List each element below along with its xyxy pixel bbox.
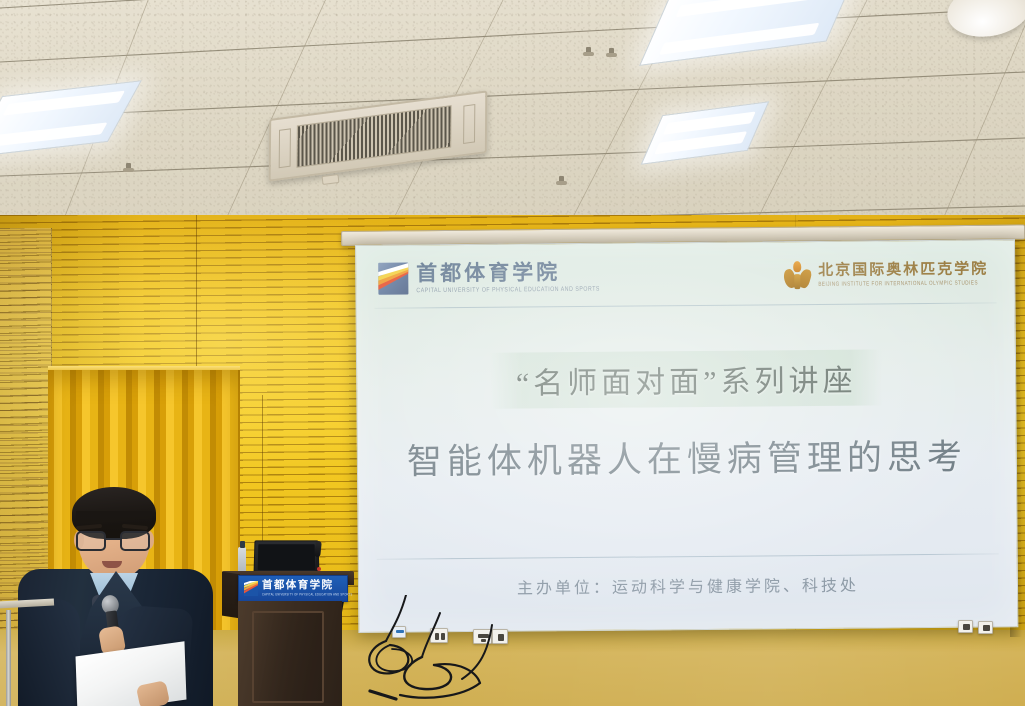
speaker-arm-left — [18, 599, 80, 706]
speaker-person — [18, 487, 213, 706]
ceiling — [0, 0, 1025, 250]
sprinkler-head-icon — [583, 47, 594, 59]
slide-series-title: “名师面对面”系列讲座 — [490, 349, 883, 408]
cupes-emblem-icon — [378, 263, 408, 295]
biios-logo: 北京国际奥林匹克学院 BEIJING INSTITUTE FOR INTERNA… — [784, 258, 988, 290]
lecture-hall-photo: 首都体育学院 CAPITAL UNIVERSITY OF PHYSICAL ED… — [0, 0, 1025, 706]
sprinkler-head-icon — [556, 176, 567, 188]
slide-subject-title: 智能体机器人在慢病管理的思考 — [358, 428, 1016, 485]
cupes-logo: 首都体育学院 CAPITAL UNIVERSITY OF PHYSICAL ED… — [378, 261, 600, 295]
olympic-flame-emblem-icon — [784, 260, 810, 290]
cupes-logo-en: CAPITAL UNIVERSITY OF PHYSICAL EDUCATION… — [416, 287, 600, 295]
sprinkler-head-icon — [606, 48, 617, 60]
sprinkler-head-icon — [123, 163, 134, 175]
ceiling-grid-lines — [0, 0, 1025, 250]
podium-nameplate-en: CAPITAL UNIVERSITY OF PHYSICAL EDUCATION… — [262, 594, 352, 598]
metal-stand-pole — [6, 610, 11, 706]
projection-screen: 首都体育学院 CAPITAL UNIVERSITY OF PHYSICAL ED… — [355, 239, 1018, 633]
eyeglasses-icon — [74, 531, 154, 553]
wall-outlet[interactable] — [978, 621, 993, 634]
slide-divider-bottom — [377, 553, 999, 559]
podium: 首都体育学院 CAPITAL UNIVERSITY OF PHYSICAL ED… — [222, 545, 354, 706]
wall-outlet[interactable] — [958, 620, 973, 633]
podium-nameplate-cn: 首都体育学院 — [262, 581, 352, 592]
podium-nameplate: 首都体育学院 CAPITAL UNIVERSITY OF PHYSICAL ED… — [238, 575, 348, 602]
biios-logo-cn: 北京国际奥林匹克学院 — [818, 262, 988, 278]
biios-logo-en: BEIJING INSTITUTE FOR INTERNATIONAL OLYM… — [818, 280, 988, 287]
slide-header: 首都体育学院 CAPITAL UNIVERSITY OF PHYSICAL ED… — [356, 248, 1014, 304]
podium-body — [238, 601, 342, 706]
slide-divider-top — [375, 302, 997, 308]
podium-front-panel — [252, 611, 324, 703]
floor-cables — [330, 595, 760, 706]
cupes-emblem-icon — [244, 581, 258, 596]
cupes-logo-cn: 首都体育学院 — [416, 262, 600, 285]
slide-series-title-band: “名师面对面”系列讲座 — [357, 348, 1015, 410]
